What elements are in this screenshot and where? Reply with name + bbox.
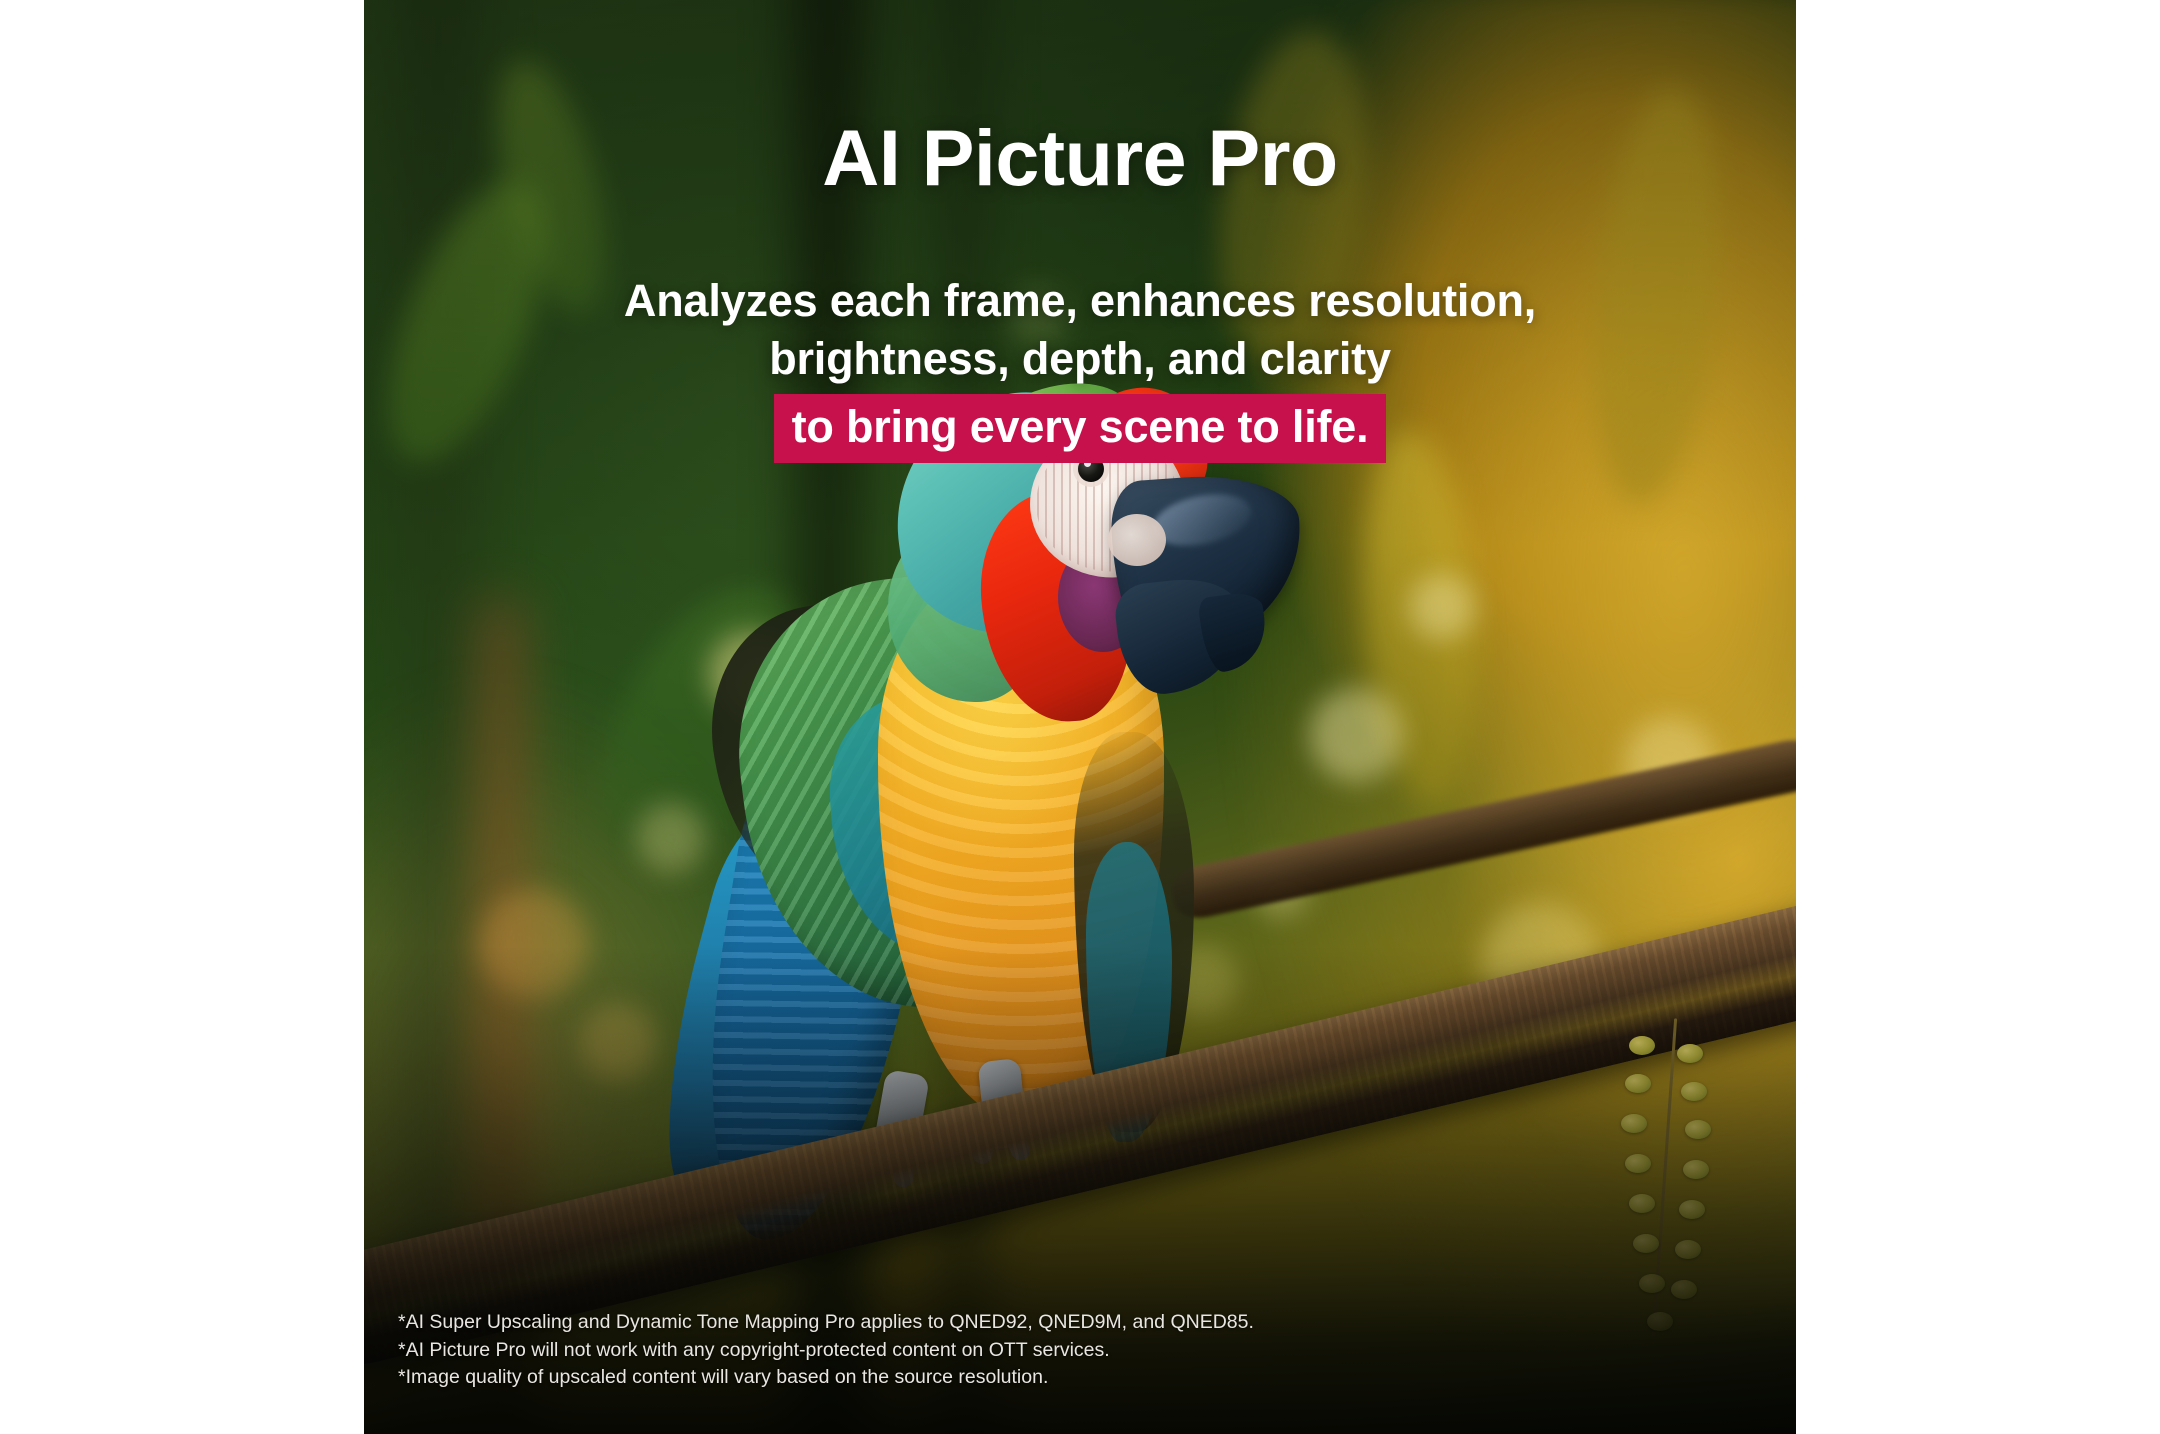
- highlight-callout: to bring every scene to life.: [774, 394, 1387, 463]
- subheadline-line-1: Analyzes each frame, enhances resolution…: [364, 278, 1796, 323]
- subheadline-block: Analyzes each frame, enhances resolution…: [364, 278, 1796, 463]
- footnotes-block: *AI Super Upscaling and Dynamic Tone Map…: [398, 1309, 1254, 1392]
- page-root: AI Picture Pro Analyzes each frame, enha…: [0, 0, 2160, 1434]
- footnote-line-1: *AI Super Upscaling and Dynamic Tone Map…: [398, 1309, 1254, 1337]
- subheadline-line-2: brightness, depth, and clarity: [364, 336, 1796, 381]
- page-title: AI Picture Pro: [364, 118, 1796, 197]
- footnote-line-2: *AI Picture Pro will not work with any c…: [398, 1337, 1254, 1365]
- parrot-cere: [1108, 514, 1166, 566]
- background-bokeh: [1409, 574, 1475, 640]
- promo-image: AI Picture Pro Analyzes each frame, enha…: [364, 0, 1796, 1434]
- background-bokeh: [1309, 688, 1403, 782]
- footnote-line-3: *Image quality of upscaled content will …: [398, 1364, 1254, 1392]
